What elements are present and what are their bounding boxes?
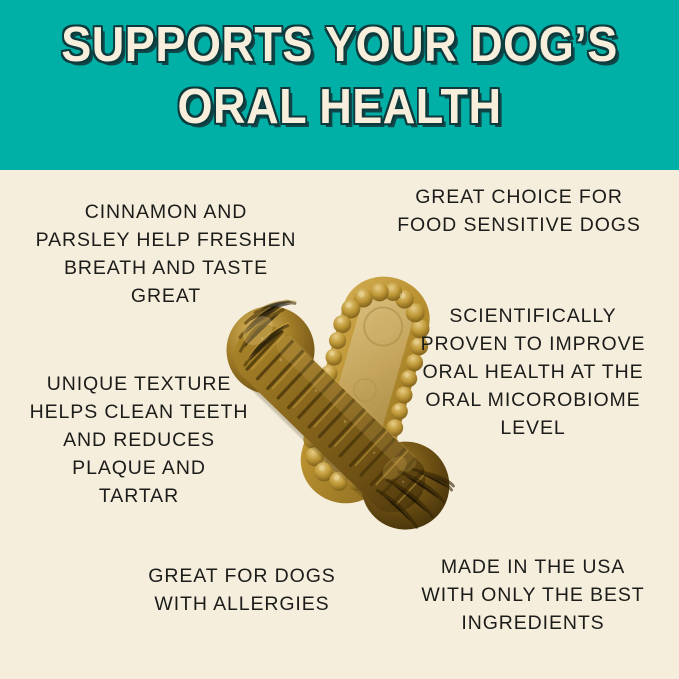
infographic-canvas: SUPPORTS YOUR DOG’S ORAL HEALTH [0, 0, 679, 679]
header-band: SUPPORTS YOUR DOG’S ORAL HEALTH [0, 0, 679, 170]
page-title: SUPPORTS YOUR DOG’S ORAL HEALTH [27, 14, 652, 138]
feature-scientifically-proven: SCIENTIFICALLY PROVEN TO IMPROVE ORAL HE… [404, 302, 662, 442]
page-title-line-1: SUPPORTS YOUR DOG’S [27, 14, 652, 76]
page-title-line-2: ORAL HEALTH [27, 76, 652, 138]
feature-unique-texture: UNIQUE TEXTURE HELPS CLEAN TEETH AND RED… [14, 370, 264, 510]
feature-food-sensitive-dogs: GREAT CHOICE FOR FOOD SENSITIVE DOGS [374, 183, 664, 239]
feature-great-for-dogs-with-allergies: GREAT FOR DOGS WITH ALLERGIES [122, 562, 362, 618]
feature-cinnamon-parsley: CINNAMON AND PARSLEY HELP FRESHEN BREATH… [22, 198, 310, 310]
feature-made-in-usa: MADE IN THE USA WITH ONLY THE BEST INGRE… [404, 553, 662, 637]
